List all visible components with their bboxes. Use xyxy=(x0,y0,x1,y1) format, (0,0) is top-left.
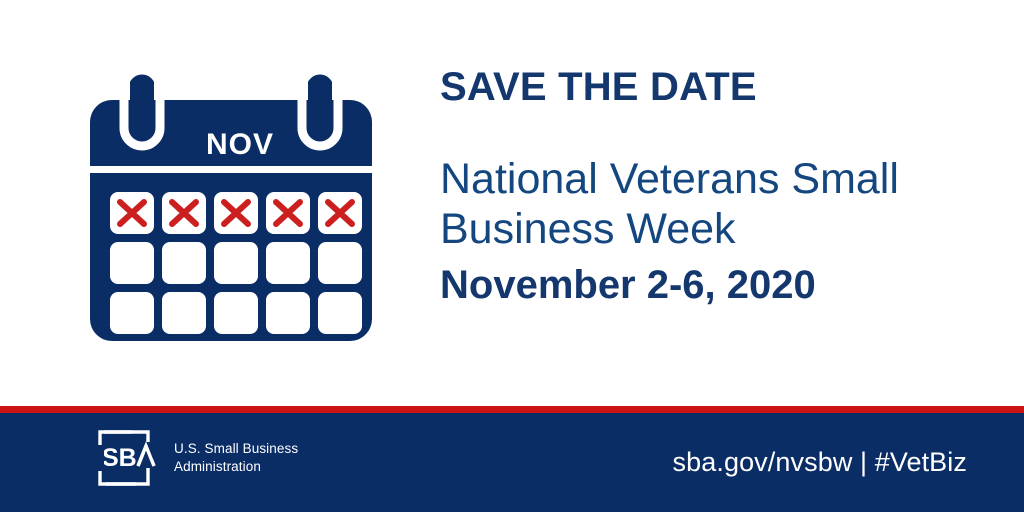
sba-logo-letters: SB xyxy=(102,444,137,472)
sba-logo-icon: SB xyxy=(96,428,158,488)
footer-url-text[interactable]: sba.gov/nvsbw | #VetBiz xyxy=(673,447,967,478)
headline-block: SAVE THE DATE National Veterans Small Bu… xyxy=(440,66,980,308)
red-divider-rule xyxy=(0,406,1024,413)
main-content-area: NOV SAVE THE DATE National Veterans Smal… xyxy=(0,0,1024,406)
calendar-row-empty-1 xyxy=(110,242,362,284)
sba-logo-group: SB U.S. Small Business Administration xyxy=(96,428,298,488)
calendar-row-empty-2 xyxy=(110,292,362,334)
event-dates: November 2-6, 2020 xyxy=(440,262,980,308)
calendar-grid xyxy=(110,192,362,334)
calendar-row-marked xyxy=(110,192,362,234)
agency-name-text: U.S. Small Business Administration xyxy=(174,440,298,476)
eyebrow-save-the-date: SAVE THE DATE xyxy=(440,66,980,108)
save-the-date-poster: NOV SAVE THE DATE National Veterans Smal… xyxy=(0,0,1024,512)
calendar-separator xyxy=(90,166,372,173)
calendar-icon: NOV xyxy=(90,66,372,341)
event-title: National Veterans Small Business Week xyxy=(440,155,980,255)
calendar-month-label: NOV xyxy=(206,128,274,161)
